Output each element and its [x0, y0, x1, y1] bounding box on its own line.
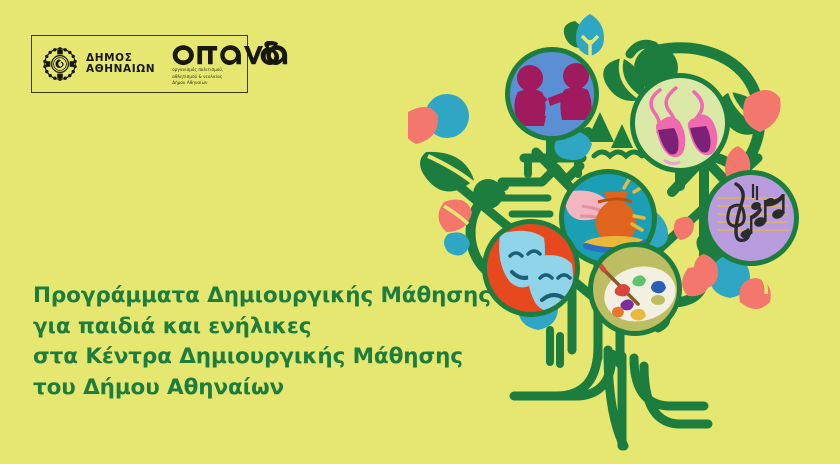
leaf-coral — [674, 217, 694, 240]
athens-logo-line2: ΑΘΗΝΑΙΩΝ — [86, 64, 155, 75]
music-notes-icon — [703, 170, 799, 266]
logo-bar: ΔΗΜΟΣ ΑΘΗΝΑΙΩΝ — [31, 35, 248, 93]
pine-tree-icon — [611, 124, 633, 148]
athens-logo-text: ΔΗΜΟΣ ΑΘΗΝΑΙΩΝ — [86, 53, 155, 76]
opanda-logo: οργανισμός πολιτισμού, αθλητισμού & νεολ… — [172, 41, 291, 86]
leaf-coral — [408, 107, 438, 144]
opanda-subtitle: οργανισμός πολιτισμού, αθλητισμού & νεολ… — [172, 67, 291, 86]
athens-city-seal-icon — [40, 44, 80, 84]
headline-line-4: του Δήμου Αθηναίων — [33, 373, 463, 404]
poster-canvas: ΔΗΜΟΣ ΑΘΗΝΑΙΩΝ — [0, 0, 840, 464]
ballet-shoes-icon — [630, 73, 730, 173]
athens-municipality-logo: ΔΗΜΟΣ ΑΘΗΝΑΙΩΝ — [32, 44, 155, 84]
opanda-wordmark-icon — [172, 41, 291, 65]
water-wave-icon — [594, 152, 642, 156]
paint-palette-icon — [588, 242, 682, 336]
creative-learning-tree-illustration — [408, 6, 840, 464]
headline-line-2: για παιδιά και ενήλικες — [33, 312, 463, 343]
opanda-subtitle-line3: Δήμου Αθηναίων — [172, 80, 291, 86]
headline-block: Προγράμματα Δημιουργικής Μάθησης για παι… — [33, 281, 463, 403]
headline-line-3: στα Κέντρα Δημιουργικής Μάθησης — [33, 342, 463, 373]
theater-masks-icon — [482, 219, 580, 317]
children-playing-icon — [505, 47, 599, 141]
headline-line-1: Προγράμματα Δημιουργικής Μάθησης — [33, 281, 463, 312]
